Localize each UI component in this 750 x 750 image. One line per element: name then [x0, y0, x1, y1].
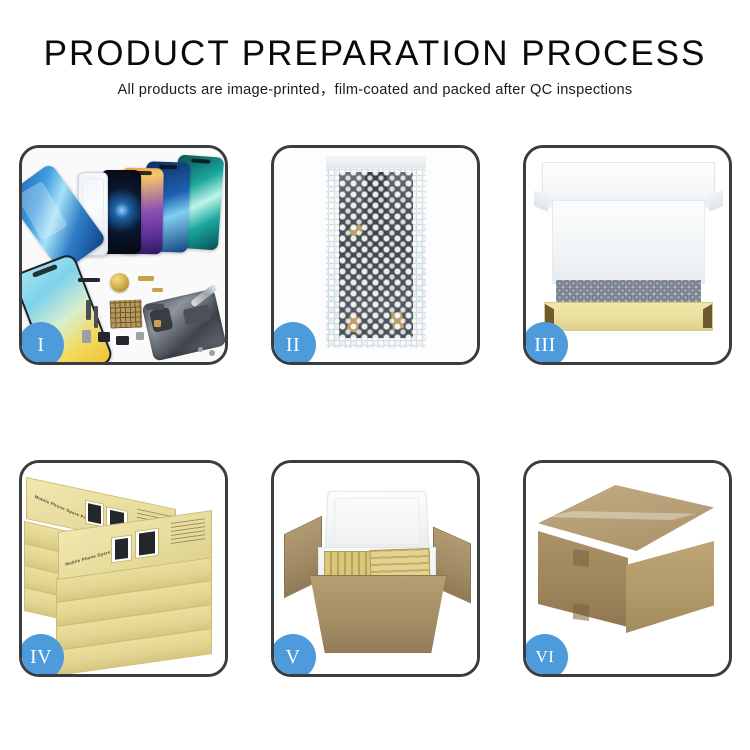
step-panel-1: I — [19, 145, 228, 365]
process-steps-grid: I II — [19, 145, 733, 677]
step-badge-2: II — [271, 322, 316, 365]
bag-seal — [326, 156, 426, 168]
page-title: PRODUCT PREPARATION PROCESS — [0, 34, 750, 74]
part-screw — [209, 350, 215, 356]
step-badge-3: III — [523, 322, 568, 365]
foam-box-lid — [324, 491, 430, 554]
box-swatch-rear-1 — [85, 500, 104, 528]
part-connector-grid — [110, 299, 143, 328]
step-panel-4: Mobile Phone Spare Parts Mobile Phone Sp… — [19, 460, 228, 677]
part-vibrator — [98, 332, 110, 342]
header: PRODUCT PREPARATION PROCESS All products… — [0, 34, 750, 99]
part-gold-chip — [154, 320, 161, 327]
part-camera-module — [116, 336, 129, 345]
part-cable-1 — [86, 300, 91, 320]
box-back-wall — [552, 200, 705, 284]
box-swatch-front-2 — [135, 528, 159, 559]
bubble-wrap-bag — [326, 156, 426, 348]
part-gold-contact — [138, 276, 154, 281]
part-screw-plate — [136, 332, 144, 340]
box-front-wall — [544, 302, 713, 331]
carton-body — [304, 575, 452, 653]
part-gold-contact-2 — [152, 288, 163, 292]
part-bracket — [82, 330, 91, 343]
carton-tab-upper — [573, 549, 589, 567]
step-panel-3: III — [523, 145, 732, 365]
bubble-texture — [326, 156, 426, 348]
step-panel-2: II — [271, 145, 480, 365]
step-badge-5: V — [271, 634, 316, 677]
carton-tab-lower — [573, 603, 589, 621]
product-preparation-infographic: PRODUCT PREPARATION PROCESS All products… — [0, 0, 750, 750]
box-swatch-front-1 — [111, 534, 132, 563]
part-flex-strip — [78, 278, 100, 282]
page-subtitle: All products are image-printed，film-coat… — [0, 81, 750, 99]
step-panel-5: V — [271, 460, 480, 677]
white-inner-box — [536, 162, 721, 314]
part-speaker-round — [110, 273, 129, 292]
step-badge-1: I — [19, 322, 64, 365]
part-cable-2 — [94, 306, 98, 328]
part-screw-2 — [198, 347, 203, 352]
step-badge-4: IV — [19, 634, 64, 677]
step-badge-6: VI — [523, 634, 568, 677]
step-panel-6: VI — [523, 460, 732, 677]
part-ribbon — [146, 304, 164, 310]
